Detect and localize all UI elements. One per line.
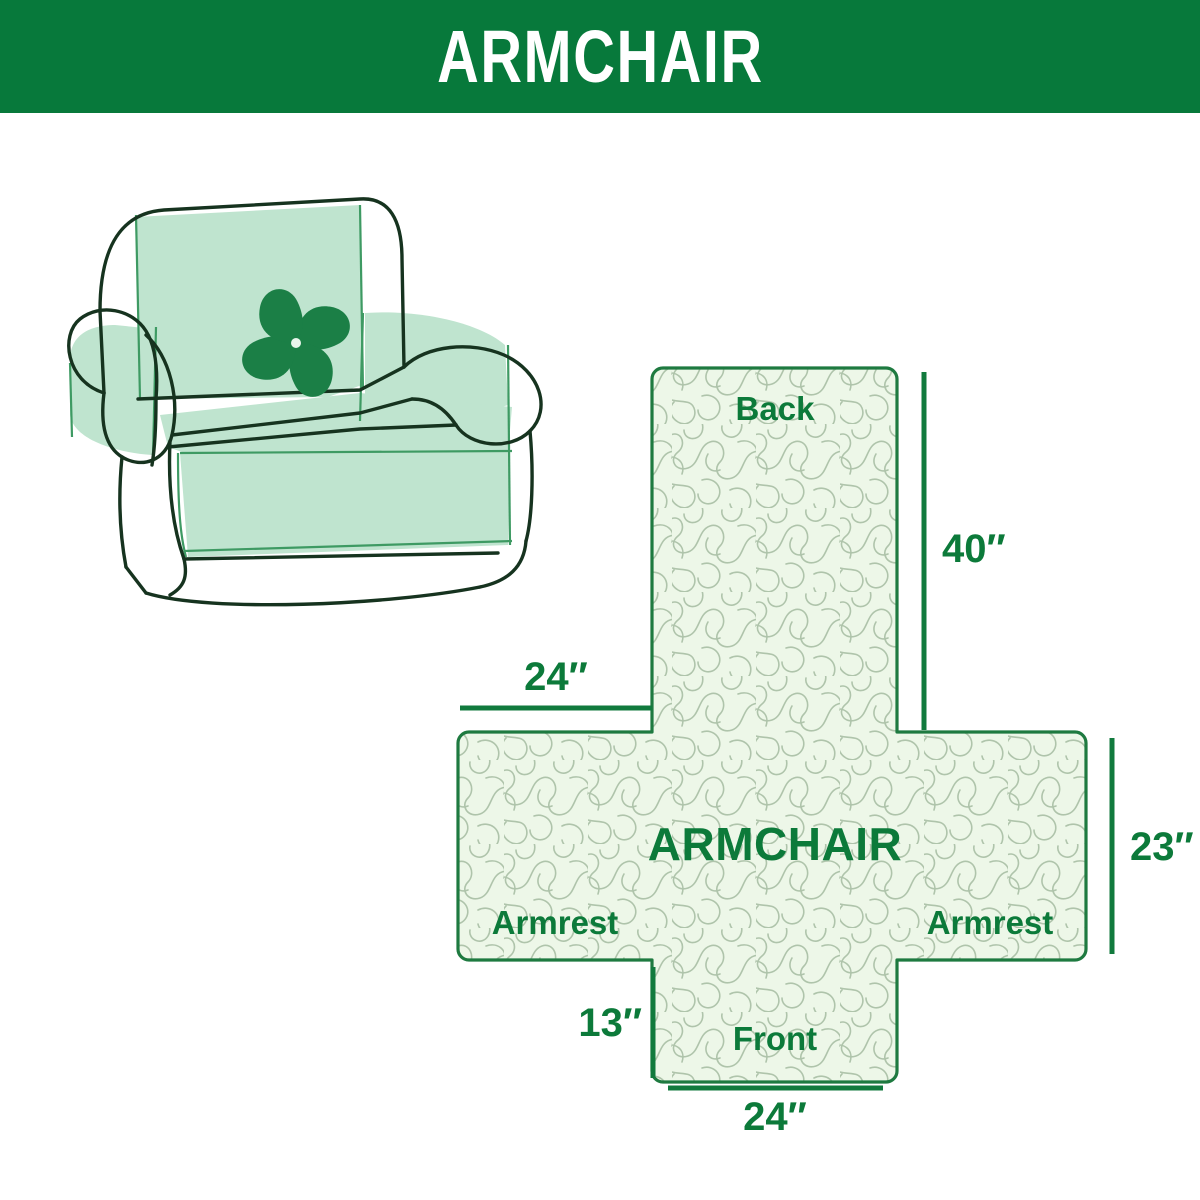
- panel-label-armrest-right: Armrest: [927, 904, 1054, 941]
- dimension-label-seat-depth: 23″: [1130, 825, 1194, 869]
- product-diagram-page: ARMCHAIR: [0, 0, 1200, 1200]
- panel-label-front: Front: [733, 1020, 817, 1057]
- page-title: ARMCHAIR: [437, 20, 764, 94]
- page-header-banner: ARMCHAIR: [0, 0, 1200, 113]
- dimension-label-back-width: 24″: [524, 655, 588, 699]
- dimension-label-back-height: 40″: [942, 527, 1006, 571]
- cover-cross-shape: [458, 368, 1086, 1082]
- dimension-label-front-width: 24″: [743, 1095, 807, 1139]
- panel-label-center: ARMCHAIR: [648, 818, 902, 870]
- dimension-label-front-height: 13″: [578, 1001, 642, 1045]
- cover-layout-diagram: Back Armrest Armrest Front ARMCHAIR 40″ …: [420, 340, 1200, 1140]
- panel-label-back: Back: [736, 390, 816, 427]
- panel-label-armrest-left: Armrest: [492, 904, 619, 941]
